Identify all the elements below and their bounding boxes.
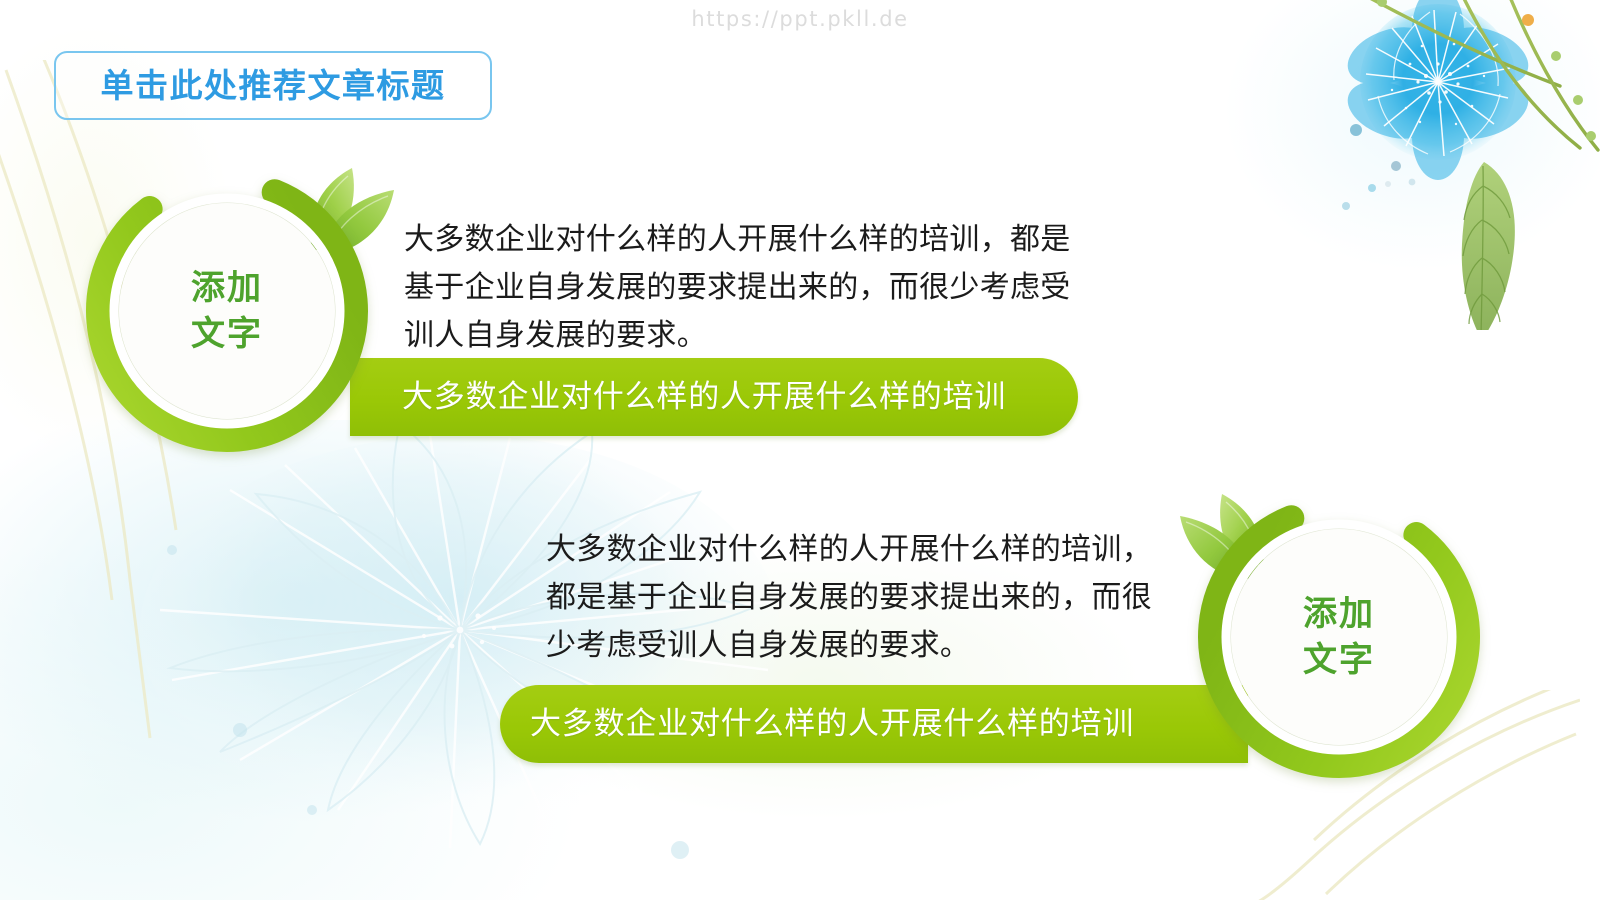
badge-1-label: 添加 文字 xyxy=(84,168,370,454)
badge-1-line-1: 添加 xyxy=(191,271,263,305)
badge-1[interactable]: 添加 文字 xyxy=(84,168,370,454)
banner-2[interactable]: 大多数企业对什么样的人开展什么样的培训 xyxy=(500,685,1248,763)
page-title: 单击此处推荐文章标题 xyxy=(101,69,446,102)
paragraph-2-line-3: 少考虑受训人自身发展的要求。 xyxy=(546,622,1166,670)
background-wash-top-right xyxy=(1120,0,1600,380)
flower-decoration-icon xyxy=(1260,0,1600,330)
badge-2-line-1: 添加 xyxy=(1303,597,1375,631)
banner-2-text: 大多数企业对什么样的人开展什么样的培训 xyxy=(530,709,1134,740)
badge-2-line-2: 文字 xyxy=(1303,643,1375,677)
paragraph-1-line-3: 训人自身发展的要求。 xyxy=(404,312,1074,360)
banner-1-text: 大多数企业对什么样的人开展什么样的培训 xyxy=(402,382,1006,413)
banner-1[interactable]: 大多数企业对什么样的人开展什么样的培训 xyxy=(350,358,1078,436)
paragraph-2-line-2: 都是基于企业自身发展的要求提出来的，而很 xyxy=(546,574,1166,622)
paragraph-2: 大多数企业对什么样的人开展什么样的培训， 都是基于企业自身发展的要求提出来的，而… xyxy=(546,526,1166,670)
paragraph-1: 大多数企业对什么样的人开展什么样的培训，都是 基于企业自身发展的要求提出来的，而… xyxy=(404,216,1074,360)
watermark-url: https://ppt.pkll.de xyxy=(0,7,1600,31)
slide-canvas: https://ppt.pkll.de 单击此处推荐文章标题 大多数企业对什么样… xyxy=(0,0,1600,900)
badge-2-label: 添加 文字 xyxy=(1196,494,1482,780)
badge-1-line-2: 文字 xyxy=(191,317,263,351)
paragraph-1-line-1: 大多数企业对什么样的人开展什么样的培训，都是 xyxy=(404,216,1074,264)
page-title-box[interactable]: 单击此处推荐文章标题 xyxy=(54,51,492,120)
badge-2[interactable]: 添加 文字 xyxy=(1196,494,1482,780)
paragraph-1-line-2: 基于企业自身发展的要求提出来的，而很少考虑受 xyxy=(404,264,1074,312)
paragraph-2-line-1: 大多数企业对什么样的人开展什么样的培训， xyxy=(546,526,1166,574)
